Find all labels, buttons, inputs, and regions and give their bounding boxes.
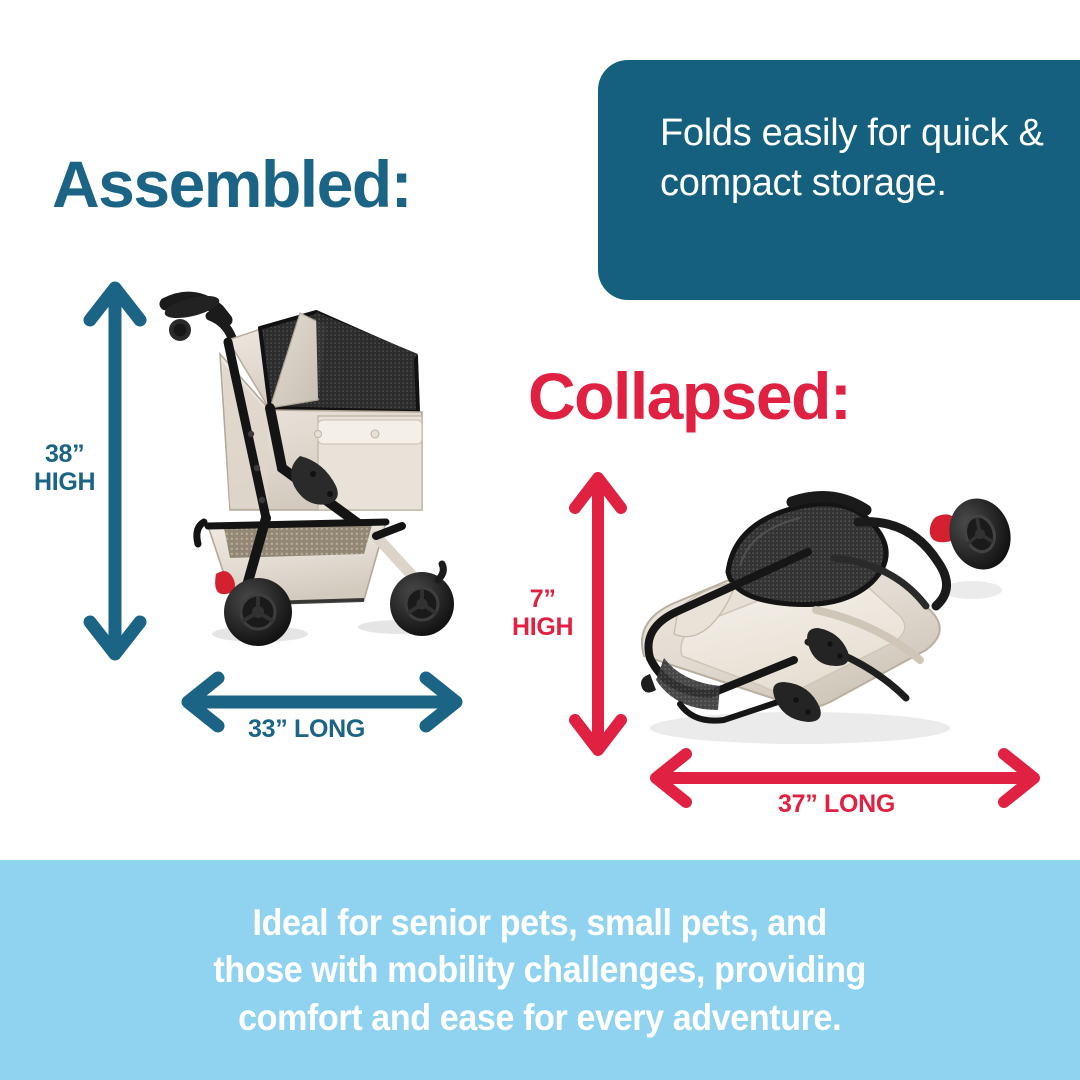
assembled-heading: Assembled: xyxy=(52,146,411,222)
collapsed-length-label: 37” LONG xyxy=(778,790,895,818)
collapsed-heading: Collapsed: xyxy=(528,358,850,434)
bottom-banner: Ideal for senior pets, small pets, and t… xyxy=(0,860,1080,1080)
bottom-banner-text: Ideal for senior pets, small pets, and t… xyxy=(214,899,867,1041)
assembled-height-arrow xyxy=(90,288,140,654)
assembled-length-label: 33” LONG xyxy=(248,715,365,743)
pet-stroller-assembled-image xyxy=(150,282,490,672)
assembled-height-label: 38” HIGH xyxy=(34,440,95,496)
folds-easily-callout-box: Folds easily for quick & compact storage… xyxy=(598,60,1080,300)
collapsed-height-label: 7” HIGH xyxy=(512,585,573,641)
infographic-page: Folds easily for quick & compact storage… xyxy=(0,0,1080,1080)
folds-easily-callout-text: Folds easily for quick & compact storage… xyxy=(660,108,1058,208)
collapsed-height-arrow xyxy=(575,478,621,750)
pet-stroller-collapsed-image xyxy=(620,460,1040,760)
